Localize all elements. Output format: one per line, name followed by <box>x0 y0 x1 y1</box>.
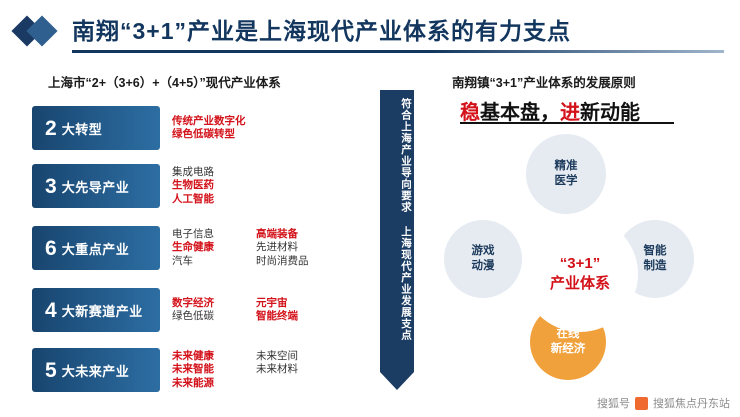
row-label: 大未来产业 <box>62 361 130 380</box>
slide-header: 南翔“3+1”产业是上海现代产业体系的有力支点 <box>0 0 740 62</box>
row-label: 大先导产业 <box>62 177 130 196</box>
circle-center-line2: 产业体系 <box>550 274 610 294</box>
row-item: 数字经济 <box>172 297 256 311</box>
row-item: 人工智能 <box>172 193 256 207</box>
row-item: 集成电路 <box>172 166 256 180</box>
circle-game-animation: 游戏 动漫 <box>444 220 522 298</box>
row-pill: 4 大新赛道产业 <box>32 288 160 332</box>
row-items: 集成电路 生物医药 人工智能 <box>172 164 256 208</box>
watermark-right-text: 搜狐焦点丹东站 <box>653 395 730 411</box>
row-item: 未来智能 <box>172 363 256 377</box>
row-item: 未来能源 <box>172 377 256 391</box>
row-number: 3 <box>45 176 57 197</box>
row-pill: 5 大未来产业 <box>32 348 160 392</box>
table-row: 2 大转型 传统产业数字化 绿色低碳转型 <box>32 106 392 150</box>
row-items: 未来健康 未来空间 未来智能 未来材料 未来能源 <box>172 348 340 392</box>
row-items: 传统产业数字化 绿色低碳转型 <box>172 106 256 150</box>
row-item: 汽车 <box>172 255 256 269</box>
table-row: 5 大未来产业 未来健康 未来空间 未来智能 未来材料 未来能源 <box>32 348 392 392</box>
watermark-left-text: 搜狐号 <box>597 395 630 411</box>
subtitle-part-4: 新动能 <box>580 102 640 124</box>
table-row: 6 大重点产业 电子信息 高端装备 生命健康 先进材料 汽车 时尚消费品 <box>32 226 392 270</box>
row-item: 元宇宙 <box>256 297 340 311</box>
circle-right-line1: 智能 <box>644 244 667 259</box>
circle-left-line1: 游戏 <box>472 244 495 259</box>
circle-right-line2: 制造 <box>644 259 667 274</box>
page-title: 南翔“3+1”产业是上海现代产业体系的有力支点 <box>72 12 571 46</box>
row-item: 高端装备 <box>256 228 340 242</box>
watermark: 搜狐号 搜狐焦点丹东站 <box>597 395 730 411</box>
row-item: 传统产业数字化 <box>172 115 256 129</box>
circle-diagram: 精准 医学 游戏 动漫 智能 制造 在线 新经济 “3+1” 产 <box>430 128 730 388</box>
circle-top-line2: 医学 <box>555 174 578 189</box>
row-pill: 3 大先导产业 <box>32 164 160 208</box>
arrow-tip-icon <box>380 372 414 390</box>
down-arrow-banner: 符合上海产业导向要求 上海现代产业发展支点 <box>380 90 414 390</box>
circle-center-line1: “3+1” <box>550 254 610 274</box>
row-item: 电子信息 <box>172 228 256 242</box>
row-item: 生命健康 <box>172 241 256 255</box>
row-items: 电子信息 高端装备 生命健康 先进材料 汽车 时尚消费品 <box>172 226 340 270</box>
slide-root: 南翔“3+1”产业是上海现代产业体系的有力支点 上海市“2+（3+6）+（4+5… <box>0 0 740 417</box>
row-label: 大转型 <box>62 119 103 138</box>
circle-center: “3+1” 产业体系 <box>522 216 638 332</box>
table-row: 3 大先导产业 集成电路 生物医药 人工智能 <box>32 164 392 208</box>
row-label: 大新赛道产业 <box>62 301 143 320</box>
subtitle-part-2: 基本盘， <box>480 102 560 124</box>
row-item: 未来材料 <box>256 363 340 377</box>
row-item: 时尚消费品 <box>256 255 340 269</box>
row-pill: 6 大重点产业 <box>32 226 160 270</box>
row-number: 2 <box>45 118 57 139</box>
row-item: 绿色低碳转型 <box>172 128 256 142</box>
right-section-heading: 南翔镇“3+1”产业体系的发展原则 <box>452 72 636 91</box>
row-item: 绿色低碳 <box>172 310 256 324</box>
right-subtitle: 稳基本盘，进新动能 <box>460 96 640 125</box>
row-pill: 2 大转型 <box>32 106 160 150</box>
row-number: 6 <box>45 238 57 259</box>
row-number: 5 <box>45 360 57 381</box>
circle-left-line2: 动漫 <box>472 259 495 274</box>
sohu-logo-icon <box>635 397 648 410</box>
table-row: 4 大新赛道产业 数字经济 元宇宙 绿色低碳 智能终端 <box>32 288 392 332</box>
row-number: 4 <box>45 300 57 321</box>
subtitle-underline <box>460 122 674 124</box>
circle-bottom-line2: 新经济 <box>551 342 586 357</box>
subtitle-part-1: 稳 <box>460 102 480 124</box>
row-item: 生物医药 <box>172 179 256 193</box>
circle-precision-medicine: 精准 医学 <box>526 134 606 214</box>
banner-text: 符合上海产业导向要求 上海现代产业发展支点 <box>380 98 414 368</box>
header-divider <box>72 50 724 53</box>
subtitle-part-3: 进 <box>560 102 580 124</box>
row-item: 未来健康 <box>172 350 256 364</box>
row-label: 大重点产业 <box>62 239 130 258</box>
row-item: 智能终端 <box>256 310 340 324</box>
diamond-logo-icon <box>16 11 62 53</box>
row-items: 数字经济 元宇宙 绿色低碳 智能终端 <box>172 288 340 332</box>
circle-top-line1: 精准 <box>555 159 578 174</box>
row-item: 先进材料 <box>256 241 340 255</box>
row-item: 未来空间 <box>256 350 340 364</box>
left-section-heading: 上海市“2+（3+6）+（4+5）”现代产业体系 <box>48 72 281 91</box>
